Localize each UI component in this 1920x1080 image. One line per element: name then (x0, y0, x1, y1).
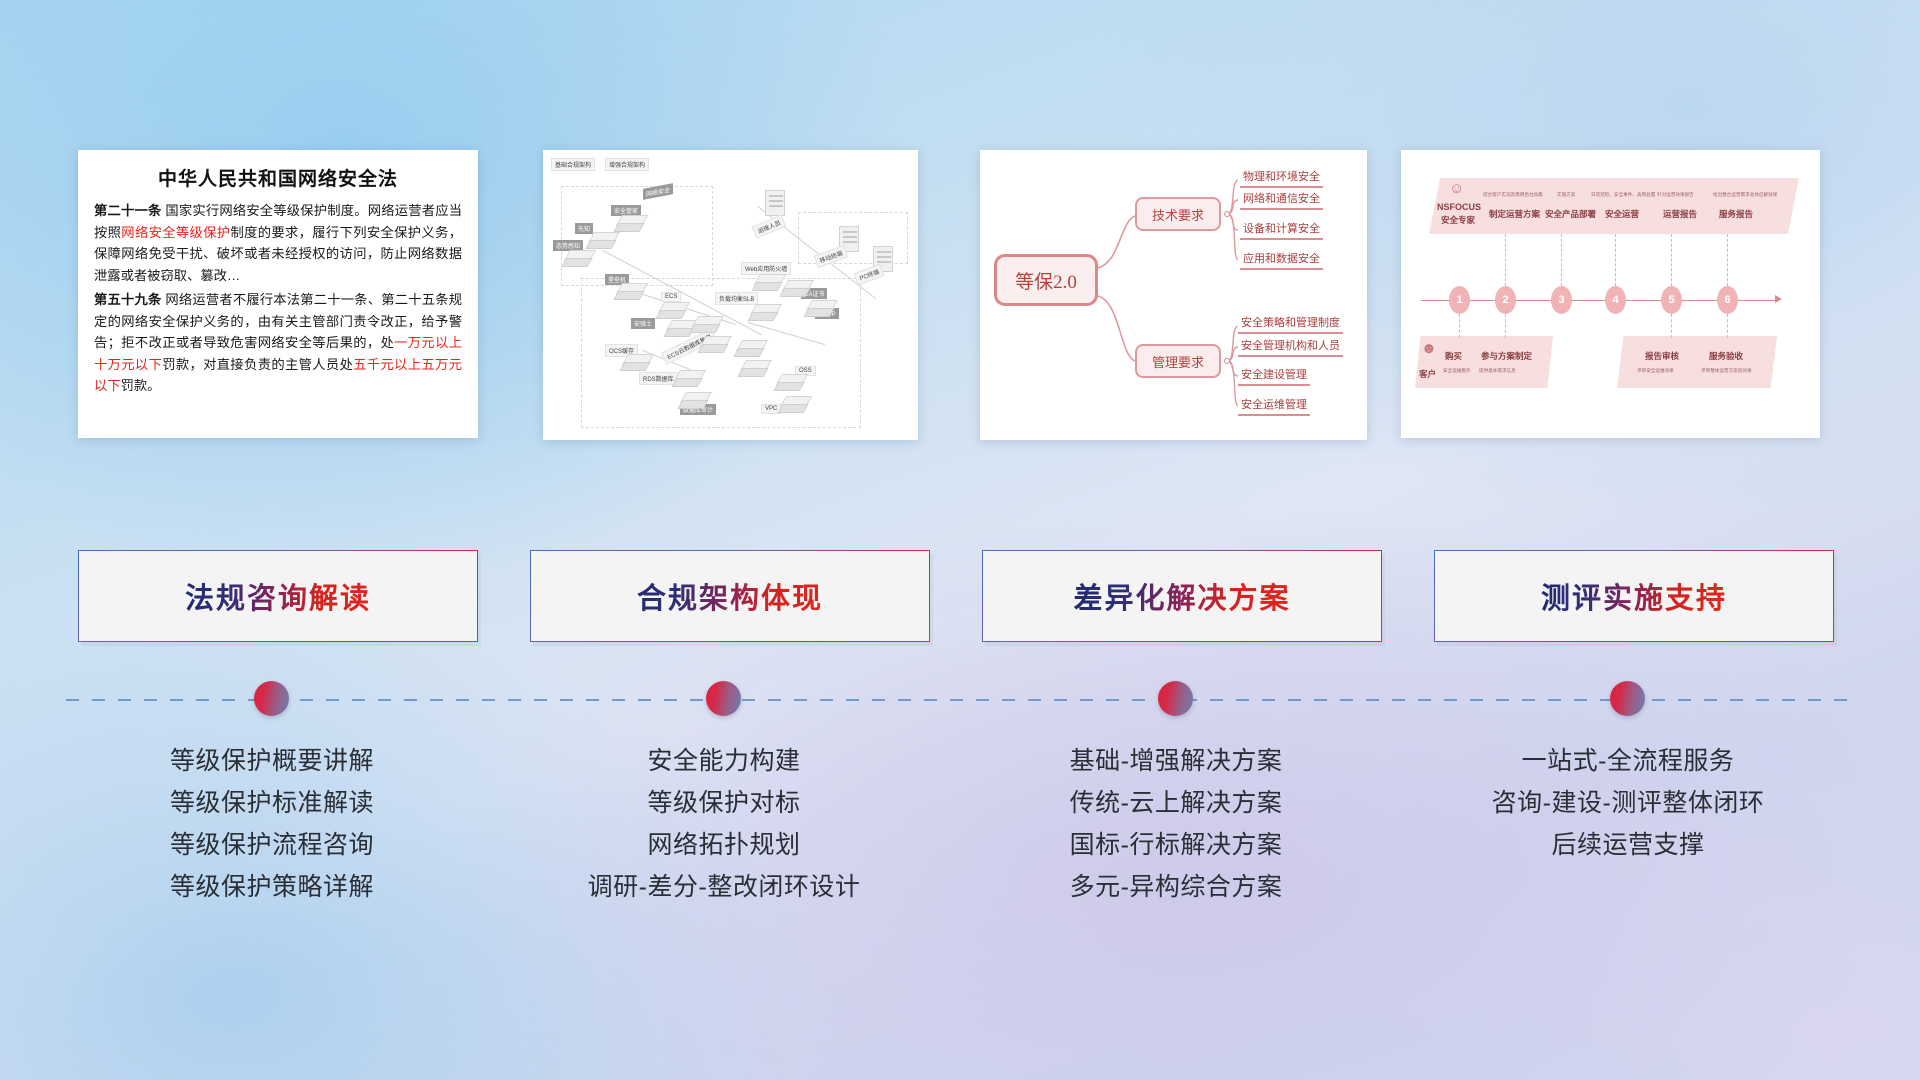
flow-tick-5 (1727, 234, 1728, 286)
flow-step-1[interactable]: 1 (1449, 286, 1470, 314)
flow-band-customer-right (1617, 336, 1777, 388)
flow-top-label-2: 安全运营 (1605, 208, 1639, 220)
mindmap-leaf-mgmt-2: 安全建设管理 (1238, 366, 1310, 386)
timeline-dot-2[interactable] (1158, 681, 1193, 716)
arch-node-anqishi: 安骑士 (631, 318, 655, 329)
flow-tick-1 (1505, 234, 1506, 286)
flow-tick-3 (1615, 234, 1616, 286)
flow-band-provider (1429, 178, 1799, 234)
list-item: 多元-异构综合方案 (976, 866, 1376, 908)
flow-bottom-sub-2: 评审安全运维效果 (1637, 368, 1674, 374)
slide-canvas: 中华人民共和国网络安全法 第二十一条 国家实行网络安全等级保护制度。网络运营者应… (0, 0, 1920, 1080)
list-item: 后续运营支撑 (1428, 824, 1828, 866)
pill-button-1[interactable]: 合规架构体现 (530, 550, 930, 642)
arch-cube-17 (783, 396, 809, 414)
mindmap-leaf-tech-3: 应用和数据安全 (1240, 250, 1323, 270)
arch-node-slb: 负载均衡SLB (715, 292, 758, 305)
list-item: 等级保护流程咨询 (72, 824, 472, 866)
mindmap-leaf-tech-2: 设备和计算安全 (1240, 220, 1323, 240)
flow-step-2[interactable]: 2 (1495, 286, 1516, 314)
flow-tick-9 (1727, 314, 1728, 338)
card-service-flow[interactable]: ☺ NSFOCUS 安全专家 结合客户实况及需明后台具典 制定运营方案 实施方案… (1401, 150, 1820, 438)
article-59-mid: 罚款，对直接负责的主管人员处 (162, 357, 353, 372)
arch-cube-2 (591, 232, 617, 250)
mindmap-leaf-mgmt-1: 安全管理机构和人员 (1238, 337, 1343, 357)
flow-expert-role: 安全专家 (1441, 214, 1475, 226)
mindmap-leaf-tech-1: 网络和通信安全 (1240, 190, 1323, 210)
arch-cube-19 (809, 300, 835, 318)
list-item: 一站式-全流程服务 (1428, 740, 1828, 782)
list-item: 等级保护策略详解 (72, 866, 472, 908)
article-21-highlight: 网络安全等级保护 (121, 225, 230, 240)
law-title: 中华人民共和国网络安全法 (94, 164, 462, 191)
flow-top-sub-4: 给出整合运营需求总体应解效果 (1713, 192, 1777, 198)
arch-node-ecs: ECS (661, 292, 681, 302)
list-item: 咨询-建设-测评整体闭环 (1428, 782, 1828, 824)
flow-tick-2 (1561, 234, 1562, 286)
flow-expert-name: NSFOCUS (1437, 202, 1481, 212)
flow-step-3[interactable]: 3 (1551, 286, 1572, 314)
flow-bottom-sub-1: 提供基本需求信息 (1479, 368, 1516, 374)
architecture-diagram: 基础合规架构 增强合规架构 网络安全 安全管家 先知 态势感知 堡垒机 (543, 150, 918, 440)
detail-column-0: 等级保护概要讲解 等级保护标准解读 等级保护流程咨询 等级保护策略详解 (72, 740, 472, 908)
arch-node-rds: RDS数据库 (639, 372, 678, 385)
list-item: 调研-差分-整改闭环设计 (524, 866, 924, 908)
arch-cube-13 (703, 336, 729, 354)
list-item: 等级保护概要讲解 (72, 740, 472, 782)
pill-button-0[interactable]: 法规咨询解读 (78, 550, 478, 642)
arch-cube-3 (567, 250, 593, 268)
arch-cube-9 (683, 392, 709, 410)
arch-zone-a (561, 186, 713, 286)
flow-top-sub-2: 日常巡检、安全事件、高周处置 (1591, 192, 1655, 198)
timeline-dot-3[interactable] (1610, 681, 1645, 716)
card-row: 中华人民共和国网络安全法 第二十一条 国家实行网络安全等级保护制度。网络运营者应… (0, 150, 1920, 440)
list-item: 基础-增强解决方案 (976, 740, 1376, 782)
flow-top-label-3: 运营报告 (1663, 208, 1697, 220)
list-item: 国标-行标解决方案 (976, 824, 1376, 866)
list-item: 等级保护对标 (524, 782, 924, 824)
mindmap-branch-tech: 技术要求 (1135, 197, 1221, 231)
mindmap-node-mgmt-icon[interactable] (1224, 358, 1230, 364)
arch-node-ops: 运维人员 (752, 214, 787, 238)
pill-label-2: 差异化解决方案 (1073, 575, 1290, 617)
arch-cube-1 (619, 215, 645, 233)
arch-cube-10 (757, 274, 783, 292)
arch-cube-11 (753, 304, 779, 322)
customer-person-icon: ☻ (1421, 340, 1437, 357)
pill-row: 法规咨询解读 合规架构体现 差异化解决方案 测评实施支持 (0, 550, 1920, 646)
arch-cube-5 (661, 302, 687, 320)
arch-cube-8 (677, 370, 703, 388)
list-item: 等级保护标准解读 (72, 782, 472, 824)
flow-bottom-sub-0: 安全运维服务 (1443, 368, 1471, 374)
card-law-text[interactable]: 中华人民共和国网络安全法 第二十一条 国家实行网络安全等级保护制度。网络运营者应… (78, 150, 478, 438)
flow-bottom-label-2: 报告审核 (1645, 350, 1679, 362)
mindmap-diagram: 等保2.0 技术要求 物理和环境安全 网络和通信安全 设备 (980, 150, 1367, 440)
list-item: 安全能力构建 (524, 740, 924, 782)
detail-column-3: 一站式-全流程服务 咨询-建设-测评整体闭环 后续运营支撑 (1428, 740, 1828, 866)
flow-top-label-4: 服务报告 (1719, 208, 1753, 220)
list-item: 传统-云上解决方案 (976, 782, 1376, 824)
flow-step-4[interactable]: 4 (1605, 286, 1626, 314)
pill-label-0: 法规咨询解读 (185, 575, 371, 617)
pill-label-3: 测评实施支持 (1541, 575, 1727, 617)
arch-tab-basic[interactable]: 基础合规架构 (551, 158, 595, 171)
mindmap-leaf-mgmt-0: 安全策略和管理制度 (1238, 314, 1343, 334)
flow-top-sub-3: 针对运营效果报告 (1657, 192, 1694, 198)
detail-column-2: 基础-增强解决方案 传统-云上解决方案 国标-行标解决方案 多元-异构综合方案 (976, 740, 1376, 908)
mindmap-node-tech-icon[interactable] (1224, 211, 1230, 217)
mindmap-leaf-mgmt-3: 安全运维管理 (1238, 396, 1310, 416)
arch-cube-16 (779, 374, 805, 392)
flow-axis-arrow-icon (1775, 295, 1782, 303)
arch-cube-15 (743, 360, 769, 378)
mindmap-leaf-tech-0: 物理和环境安全 (1240, 168, 1323, 188)
flow-tick-8 (1671, 314, 1672, 338)
detail-lists: 等级保护概要讲解 等级保护标准解读 等级保护流程咨询 等级保护策略详解 安全能力… (0, 740, 1920, 970)
arch-cube-12 (695, 316, 721, 334)
article-59-label: 第五十九条 (94, 292, 161, 307)
arch-cube-14 (739, 340, 765, 358)
arch-cube-4 (619, 283, 645, 301)
law-article-21: 第二十一条 国家实行网络安全等级保护制度。网络运营者应当按照网络安全等级保护制度… (94, 200, 462, 286)
flow-step-5[interactable]: 5 (1661, 286, 1682, 314)
arch-cube-18 (785, 280, 811, 298)
detail-column-1: 安全能力构建 等级保护对标 网络拓扑规划 调研-差分-整改闭环设计 (524, 740, 924, 908)
arch-cube-7 (625, 354, 651, 372)
flow-customer-role: 客户 (1419, 368, 1436, 380)
arch-node-pc: PC终端 (854, 264, 885, 286)
flow-top-sub-1: 实施方案 (1557, 192, 1575, 198)
flow-step-6[interactable]: 6 (1717, 286, 1738, 314)
timeline-dashed-line (66, 699, 1856, 701)
flow-tick-4 (1671, 234, 1672, 286)
article-59-after: 罚款。 (121, 378, 161, 393)
law-body: 中华人民共和国网络安全法 第二十一条 国家实行网络安全等级保护制度。网络运营者应… (78, 150, 478, 408)
flow-bottom-label-0: 购买 (1445, 350, 1462, 362)
flow-top-sub-0: 结合客户实况及需明后台具典 (1483, 192, 1543, 198)
flow-bottom-label-1: 参与方案制定 (1481, 350, 1532, 362)
flow-top-label-0: 制定运营方案 (1489, 208, 1540, 220)
arch-srv-ops (765, 190, 785, 216)
timeline (0, 697, 1920, 703)
timeline-dot-1[interactable] (706, 681, 741, 716)
card-mindmap[interactable]: 等保2.0 技术要求 物理和环境安全 网络和通信安全 设备 (980, 150, 1367, 440)
flow-tick-6 (1459, 314, 1460, 338)
list-item: 网络拓扑规划 (524, 824, 924, 866)
article-21-label: 第二十一条 (94, 203, 161, 218)
timeline-dot-0[interactable] (254, 681, 289, 716)
flow-tick-7 (1505, 314, 1506, 338)
flow-bottom-sub-3: 评审整体运营方案验效果 (1701, 368, 1752, 374)
flow-bottom-label-3: 服务验收 (1709, 350, 1743, 362)
law-article-59: 第五十九条 网络运营者不履行本法第二十一条、第二十五条规定的网络安全保护义务的，… (94, 289, 462, 397)
expert-person-icon: ☺ (1449, 180, 1464, 197)
pill-label-1: 合规架构体现 (637, 575, 823, 617)
service-flow-diagram: ☺ NSFOCUS 安全专家 结合客户实况及需明后台具典 制定运营方案 实施方案… (1401, 150, 1820, 438)
mindmap-branch-mgmt: 管理要求 (1135, 344, 1221, 378)
card-cloud-architecture[interactable]: 基础合规架构 增强合规架构 网络安全 安全管家 先知 态势感知 堡垒机 (543, 150, 918, 440)
arch-tab-enhanced[interactable]: 增强合规架构 (605, 158, 649, 171)
pill-button-3[interactable]: 测评实施支持 (1434, 550, 1834, 642)
pill-button-2[interactable]: 差异化解决方案 (982, 550, 1382, 642)
flow-top-label-1: 安全产品部署 (1545, 208, 1596, 220)
